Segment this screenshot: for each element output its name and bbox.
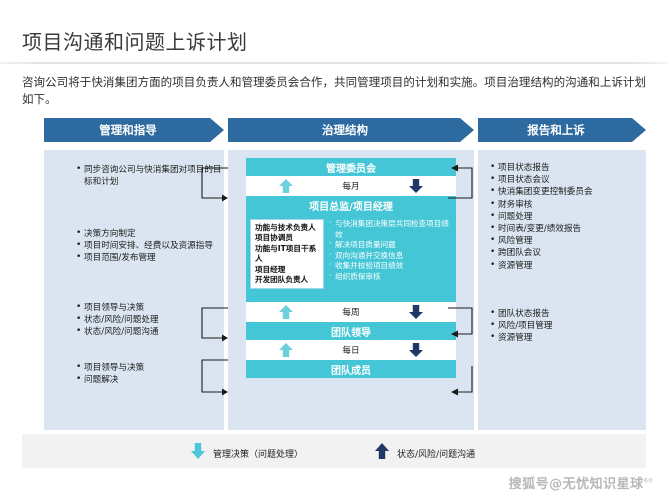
- list-item: 风险/项目管理: [490, 320, 642, 332]
- legend-down-label: 管理决策（问题处理）: [213, 447, 303, 460]
- banner-right-label: 报告和上诉: [527, 122, 597, 138]
- intro-paragraph: 咨询公司将于快消集团方面的项目负责人和管理委员会合作，共同管理项目的计划和实施。…: [22, 74, 646, 108]
- tasks-list: 与快消集团决策层共同检查项目绩效 解决项目质量问题 双向沟通并交换信息 收集并校…: [329, 219, 452, 283]
- up-arrow-icon: [374, 442, 390, 464]
- legend: 管理决策（问题处理） 状态/风险/问题沟通: [22, 434, 646, 468]
- connector-right-bottom: [446, 364, 490, 402]
- legend-item-up: 状态/风险/问题沟通: [374, 442, 475, 464]
- list-item: 快消集团变更控制委员会: [490, 186, 642, 198]
- bar-team-member: 团队成员: [246, 360, 456, 378]
- banner-governance-structure: 治理结构: [228, 118, 474, 142]
- list-item: 解决项目质量问题: [329, 240, 452, 251]
- list-item: 项目时间安排、经费以及资源指导: [76, 240, 226, 252]
- connector-left-mid: [184, 306, 230, 346]
- slide-page: 项目沟通和问题上诉计划 咨询公司将于快消集团方面的项目负责人和管理委员会合作，共…: [0, 0, 667, 500]
- list-item: 风险管理: [490, 235, 642, 247]
- banner-reporting-escalation: 报告和上诉: [478, 118, 646, 142]
- list-item: 资源管理: [490, 332, 642, 344]
- list-item: 与快消集团决策层共同检查项目绩效: [329, 219, 452, 240]
- list-item: 项目状态报告: [490, 162, 642, 174]
- cadence-row-weekly: 每周: [246, 302, 456, 322]
- right-group-1: 项目状态报告 项目状态会议 快消集团变更控制委员会 财务审核 问题处理 时间表/…: [490, 162, 642, 272]
- connector-left-bottom: [184, 358, 230, 400]
- right-group-1-list: 项目状态报告 项目状态会议 快消集团变更控制委员会 财务审核 问题处理 时间表/…: [490, 162, 642, 272]
- list-item: 时间表/变更/绩效报告: [490, 223, 642, 235]
- up-arrow-icon: [278, 342, 294, 358]
- cadence-monthly-label: 每月: [342, 180, 359, 192]
- tasks-list-wrap: 与快消集团决策层共同检查项目绩效 解决项目质量问题 双向沟通并交换信息 收集并校…: [329, 219, 452, 283]
- column-middle: 管理委员会 每月 项目总监/项目经理 功能与技术负责人 项目协调员 功能与IT项…: [228, 150, 474, 430]
- connector-left-top: [184, 166, 230, 206]
- up-arrow-icon: [278, 178, 294, 194]
- list-item: 跨团队会议: [490, 247, 642, 259]
- list-item: 项目范围/发布管理: [76, 252, 226, 264]
- banner-left-label: 管理和指导: [99, 122, 169, 138]
- down-arrow-icon: [408, 304, 424, 320]
- list-item: 双向沟通并交换信息: [329, 251, 452, 262]
- left-group-2: 决策方向制定 项目时间安排、经费以及资源指导 项目范围/发布管理: [76, 228, 226, 265]
- bar-team-member-label: 团队成员: [331, 362, 371, 377]
- left-group-2-list: 决策方向制定 项目时间安排、经费以及资源指导 项目范围/发布管理: [76, 228, 226, 265]
- list-item: 组织质保审核: [329, 272, 452, 283]
- cadence-weekly-label: 每周: [342, 306, 359, 318]
- governance-diagram: 管理和指导 治理结构 报告和上诉 同步咨询公司与快消集团对项目的目标和计划 决策…: [22, 118, 646, 430]
- list-item: 问题处理: [490, 211, 642, 223]
- list-item: 团队状态报告: [490, 308, 642, 320]
- up-arrow-icon: [278, 304, 294, 320]
- list-item: 财务审核: [490, 199, 642, 211]
- bar-management-committee-label: 管理委员会: [326, 160, 376, 175]
- watermark-text: 搜狐号@无忧知识星球: [509, 477, 644, 492]
- bar-project-director-label: 项目总监/项目经理: [309, 198, 393, 213]
- bar-team-leader: 团队领导: [246, 322, 456, 340]
- list-item: 决策方向制定: [76, 228, 226, 240]
- column-right: 项目状态报告 项目状态会议 快消集团变更控制委员会 财务审核 问题处理 时间表/…: [478, 150, 646, 430]
- bar-management-committee: 管理委员会: [246, 158, 456, 176]
- down-arrow-icon: [408, 178, 424, 194]
- page-title: 项目沟通和问题上诉计划: [22, 26, 248, 55]
- list-item: 资源管理: [490, 260, 642, 272]
- bar-team-leader-label: 团队领导: [331, 324, 371, 339]
- watermark: 搜狐号@无忧知识星球60: [509, 473, 653, 492]
- title-divider: [0, 62, 667, 64]
- cadence-daily-label: 每日: [342, 344, 359, 356]
- right-group-2: 团队状态报告 风险/项目管理 资源管理: [490, 308, 642, 345]
- list-item: 收集并校验项目绩效: [329, 261, 452, 272]
- connector-right-mid: [446, 304, 490, 344]
- roles-tasks-panel: 功能与技术负责人 项目协调员 功能与IT项目干系人 项目经理 开发团队负责人 与…: [246, 214, 456, 302]
- banner-management-guidance: 管理和指导: [44, 118, 224, 142]
- connector-right-top: [446, 162, 490, 206]
- legend-up-label: 状态/风险/问题沟通: [397, 447, 475, 460]
- bar-project-director: 项目总监/项目经理: [246, 196, 456, 214]
- legend-item-down: 管理决策（问题处理）: [190, 442, 303, 464]
- roles-box: 功能与技术负责人 项目协调员 功能与IT项目干系人 项目经理 开发团队负责人: [250, 219, 324, 289]
- cadence-row-monthly: 每月: [246, 176, 456, 196]
- down-arrow-icon: [190, 442, 206, 464]
- right-group-2-list: 团队状态报告 风险/项目管理 资源管理: [490, 308, 642, 345]
- cadence-row-daily: 每日: [246, 340, 456, 360]
- governance-stack: 管理委员会 每月 项目总监/项目经理 功能与技术负责人 项目协调员 功能与IT项…: [246, 158, 456, 378]
- down-arrow-icon: [408, 342, 424, 358]
- watermark-sup: 60: [644, 478, 653, 485]
- banner-middle-label: 治理结构: [322, 122, 380, 138]
- list-item: 项目状态会议: [490, 174, 642, 186]
